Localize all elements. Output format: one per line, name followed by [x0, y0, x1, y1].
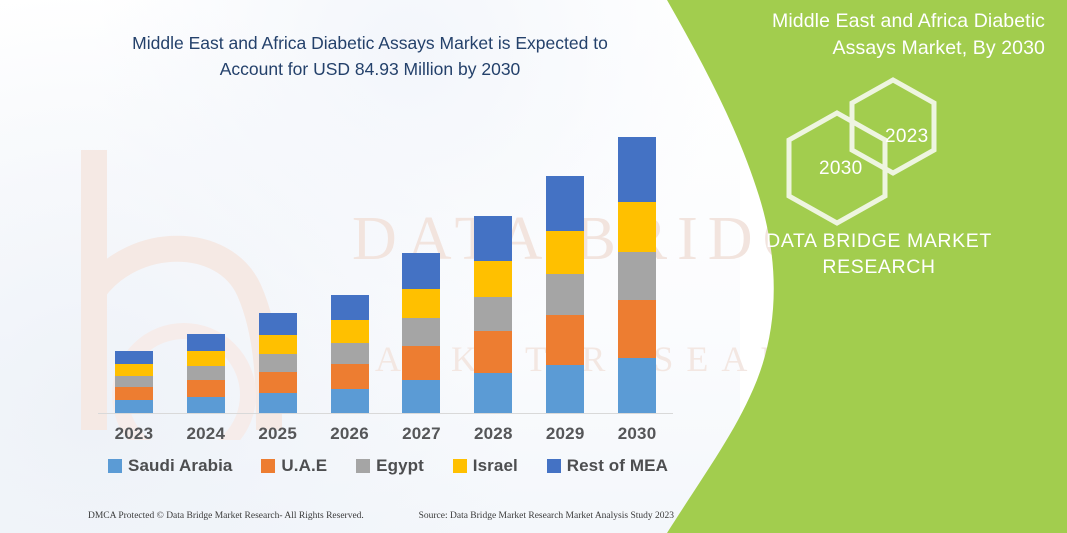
x-axis-label-2024: 2024	[170, 424, 242, 450]
stacked-bar-2027[interactable]	[402, 253, 440, 413]
bar-segment-rest-of-mea[interactable]	[259, 313, 297, 335]
legend-item-rest-of-mea[interactable]: Rest of MEA	[547, 456, 668, 476]
bar-slot-2030	[601, 113, 673, 413]
bar-segment-rest-of-mea[interactable]	[474, 216, 512, 261]
bar-segment-israel[interactable]	[618, 202, 656, 252]
bar-segment-egypt[interactable]	[259, 354, 297, 372]
x-axis-label-2023: 2023	[98, 424, 170, 450]
bar-segment-israel[interactable]	[546, 231, 584, 274]
footer-source-note: Source: Data Bridge Market Research Mark…	[419, 511, 678, 521]
hexagon-badges: 2030 2023	[667, 0, 1067, 260]
x-axis-labels: 20232024202520262027202820292030	[98, 424, 673, 450]
x-axis-label-2029: 2029	[529, 424, 601, 450]
legend-swatch-icon	[356, 459, 370, 473]
legend-item-egypt[interactable]: Egypt	[356, 456, 424, 476]
x-axis-label-2028: 2028	[457, 424, 529, 450]
bar-segment-rest-of-mea[interactable]	[402, 253, 440, 289]
bar-segment-rest-of-mea[interactable]	[331, 295, 369, 320]
legend-swatch-icon	[108, 459, 122, 473]
stacked-bar-2028[interactable]	[474, 216, 512, 413]
bar-segment-rest-of-mea[interactable]	[115, 351, 153, 364]
bar-segment-israel[interactable]	[187, 351, 225, 366]
x-axis-line	[98, 413, 673, 414]
legend-swatch-icon	[547, 459, 561, 473]
bar-slot-2029	[529, 113, 601, 413]
page-title: Middle East and Africa Diabetic Assays M…	[105, 30, 635, 82]
brand-name: DATA BRIDGE MARKET RESEARCH	[667, 228, 1067, 280]
bar-segment-u-a-e[interactable]	[618, 300, 656, 358]
legend-item-u-a-e[interactable]: U.A.E	[261, 456, 327, 476]
bar-segment-u-a-e[interactable]	[331, 364, 369, 389]
legend-item-israel[interactable]: Israel	[453, 456, 518, 476]
bar-segment-u-a-e[interactable]	[115, 387, 153, 400]
bar-segment-saudi-arabia[interactable]	[331, 389, 369, 413]
legend-label: Rest of MEA	[567, 456, 668, 476]
bar-segment-u-a-e[interactable]	[187, 380, 225, 397]
bar-segment-saudi-arabia[interactable]	[618, 358, 656, 413]
bar-slot-2028	[457, 113, 529, 413]
legend-label: Egypt	[376, 456, 424, 476]
bar-segment-egypt[interactable]	[474, 297, 512, 331]
bar-slot-2024	[170, 113, 242, 413]
stacked-bar-2025[interactable]	[259, 313, 297, 413]
bar-segment-u-a-e[interactable]	[259, 372, 297, 393]
bar-segment-egypt[interactable]	[115, 376, 153, 387]
bar-segment-egypt[interactable]	[331, 343, 369, 364]
chart-legend: Saudi ArabiaU.A.EEgyptIsraelRest of MEA	[108, 453, 668, 479]
bar-slot-2026	[314, 113, 386, 413]
bar-segment-egypt[interactable]	[402, 318, 440, 346]
bar-segment-saudi-arabia[interactable]	[402, 380, 440, 413]
footer-dmca-notice: DMCA Protected © Data Bridge Market Rese…	[88, 511, 364, 521]
bar-segment-israel[interactable]	[402, 289, 440, 318]
brand-line-1: DATA BRIDGE MARKET	[691, 228, 1067, 254]
bar-segment-saudi-arabia[interactable]	[259, 393, 297, 413]
stacked-bar-2024[interactable]	[187, 334, 225, 413]
bar-segment-israel[interactable]	[259, 335, 297, 354]
bar-segment-rest-of-mea[interactable]	[546, 176, 584, 231]
legend-label: U.A.E	[281, 456, 327, 476]
x-axis-label-2030: 2030	[601, 424, 673, 450]
legend-item-saudi-arabia[interactable]: Saudi Arabia	[108, 456, 233, 476]
x-axis-label-2027: 2027	[386, 424, 458, 450]
bar-segment-israel[interactable]	[115, 364, 153, 376]
x-axis-label-2026: 2026	[314, 424, 386, 450]
plot-area	[98, 100, 673, 414]
bar-segment-israel[interactable]	[331, 320, 369, 343]
bar-segment-u-a-e[interactable]	[402, 346, 440, 380]
bar-segment-egypt[interactable]	[187, 366, 225, 380]
bar-group	[98, 113, 673, 413]
stacked-bar-2026[interactable]	[331, 295, 369, 413]
bar-segment-egypt[interactable]	[618, 252, 656, 300]
bar-slot-2025	[242, 113, 314, 413]
bar-segment-saudi-arabia[interactable]	[546, 365, 584, 413]
x-axis-label-2025: 2025	[242, 424, 314, 450]
bar-segment-israel[interactable]	[474, 261, 512, 297]
bar-slot-2023	[98, 113, 170, 413]
bar-segment-egypt[interactable]	[546, 274, 584, 315]
stacked-bar-2030[interactable]	[618, 137, 656, 413]
legend-label: Israel	[473, 456, 518, 476]
legend-swatch-icon	[261, 459, 275, 473]
stacked-bar-2029[interactable]	[546, 176, 584, 413]
bar-segment-u-a-e[interactable]	[474, 331, 512, 373]
legend-label: Saudi Arabia	[128, 456, 233, 476]
bar-segment-rest-of-mea[interactable]	[618, 137, 656, 202]
bar-segment-saudi-arabia[interactable]	[474, 373, 512, 413]
infographic-canvas: DATA BRIDGE MARKET RESEARCH Middle East …	[0, 0, 1067, 533]
bar-segment-rest-of-mea[interactable]	[187, 334, 225, 351]
bar-segment-saudi-arabia[interactable]	[115, 400, 153, 413]
legend-swatch-icon	[453, 459, 467, 473]
bar-segment-u-a-e[interactable]	[546, 315, 584, 365]
brand-line-2: RESEARCH	[691, 254, 1067, 280]
hexagon-2023-label: 2023	[885, 126, 928, 148]
footer: DMCA Protected © Data Bridge Market Rese…	[88, 508, 678, 524]
bar-segment-saudi-arabia[interactable]	[187, 397, 225, 413]
brand-panel: Middle East and Africa Diabetic Assays M…	[667, 0, 1067, 533]
stacked-bar-2023[interactable]	[115, 351, 153, 413]
hexagon-2030-label: 2030	[819, 158, 862, 180]
bar-slot-2027	[386, 113, 458, 413]
stacked-bar-chart	[98, 100, 673, 416]
